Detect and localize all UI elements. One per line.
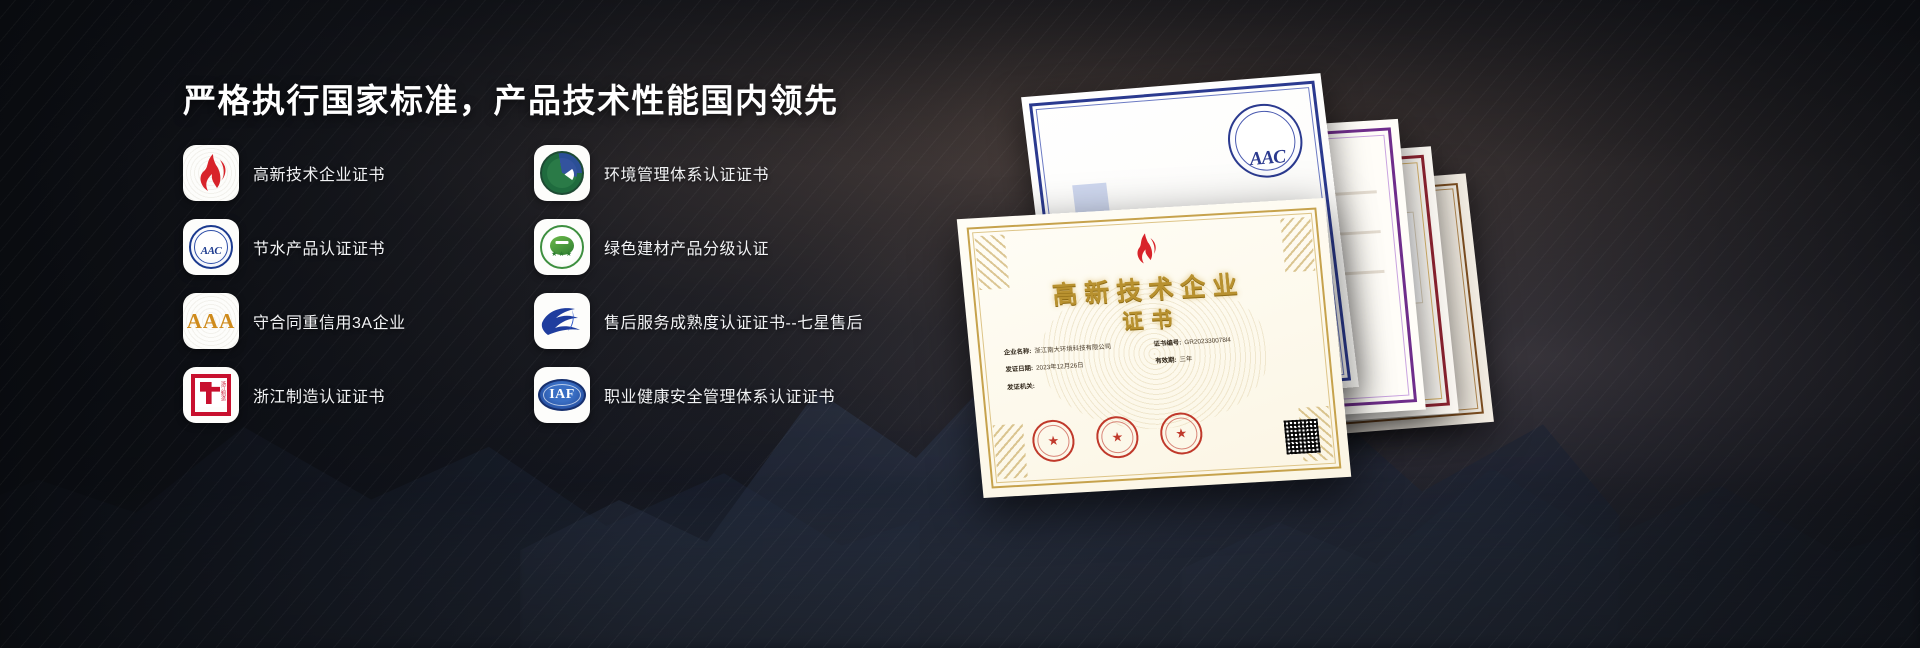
- certification-list: 高新技术企业证书 环境管理体系认证证书 AAC: [183, 136, 983, 432]
- certification-banner: 节水产品认证证书 高新技术企业 证书 企业名称:: [0, 0, 1920, 648]
- field-value: 三年: [1179, 357, 1192, 364]
- cert-item-label: 职业健康安全管理体系认证证书: [604, 383, 835, 407]
- field-value: [1038, 384, 1039, 390]
- cert-item-environmental-management[interactable]: 环境管理体系认证证书: [534, 136, 885, 210]
- certificate-field: 有效期: 三年: [1155, 351, 1305, 366]
- cert-item-label: 售后服务成熟度认证证书--七星售后: [604, 309, 863, 333]
- seven-star-swoosh-icon: [534, 293, 590, 349]
- aac-seal-icon: AAC: [183, 219, 239, 275]
- environment-globe-icon: [534, 145, 590, 201]
- cert-item-occupational-health-safety[interactable]: IAF 职业健康安全管理体系认证证书: [534, 358, 885, 432]
- iaf-oval-icon: IAF: [534, 367, 590, 423]
- field-value: GR202330078l4: [1184, 338, 1231, 347]
- cert-item-after-sales-service[interactable]: 售后服务成熟度认证证书--七星售后: [534, 284, 885, 358]
- red-official-seal-icon: [1158, 411, 1204, 455]
- flame-logo-icon: [183, 145, 239, 201]
- cert-item-zhejiang-made[interactable]: 浙江制造 ZHEJIANG MADE 浙江制造认证证书: [183, 358, 534, 432]
- field-key: 发证日期:: [1005, 366, 1033, 374]
- cert-item-label: 守合同重信用3A企业: [253, 309, 406, 333]
- zhejiang-made-icon: 浙江制造 ZHEJIANG MADE: [183, 367, 239, 423]
- page-title: 严格执行国家标准，产品技术性能国内领先: [183, 74, 839, 122]
- red-official-seal-icon: [1030, 419, 1076, 463]
- cert-item-label: 绿色建材产品分级认证: [604, 235, 769, 259]
- field-key: 发证机关:: [1007, 384, 1035, 392]
- red-official-seal-icon: [1094, 415, 1140, 459]
- cert-item-label: 节水产品认证证书: [253, 235, 385, 259]
- certificate-field: 发证机关:: [1007, 377, 1157, 392]
- cert-item-green-building-material[interactable]: ★★★ 绿色建材产品分级认证: [534, 210, 885, 284]
- cert-item-aaa-credit-enterprise[interactable]: AAA 守合同重信用3A企业: [183, 284, 534, 358]
- field-key: 有效期:: [1155, 358, 1177, 366]
- cert-item-water-saving-product[interactable]: AAC 节水产品认证证书: [183, 210, 534, 284]
- cert-item-label: 环境管理体系认证证书: [604, 161, 769, 185]
- banner-content: 严格执行国家标准，产品技术性能国内领先 高新技术企业证书: [0, 0, 1000, 648]
- cert-item-high-tech-enterprise[interactable]: 高新技术企业证书: [183, 136, 534, 210]
- certificate-field: 发证日期: 2023年12月26日: [1005, 359, 1155, 374]
- field-key: 企业名称:: [1004, 349, 1032, 357]
- qr-code-icon: [1284, 419, 1321, 455]
- flame-logo-icon: [1128, 232, 1161, 268]
- field-key: 证书编号:: [1153, 340, 1181, 348]
- certificate-image-stack: 节水产品认证证书 高新技术企业 证书 企业名称:: [960, 60, 1660, 480]
- green-leaf-icon: ★★★: [534, 219, 590, 275]
- cert-item-label: 浙江制造认证证书: [253, 383, 385, 407]
- field-value: 2023年12月26日: [1036, 363, 1084, 372]
- aaa-letters-icon: AAA: [183, 293, 239, 349]
- cert-item-label: 高新技术企业证书: [253, 161, 385, 185]
- high-tech-enterprise-certificate: 高新技术企业 证书 企业名称: 浙江南大环境科技有限公司 证书编号: GR202…: [957, 198, 1351, 498]
